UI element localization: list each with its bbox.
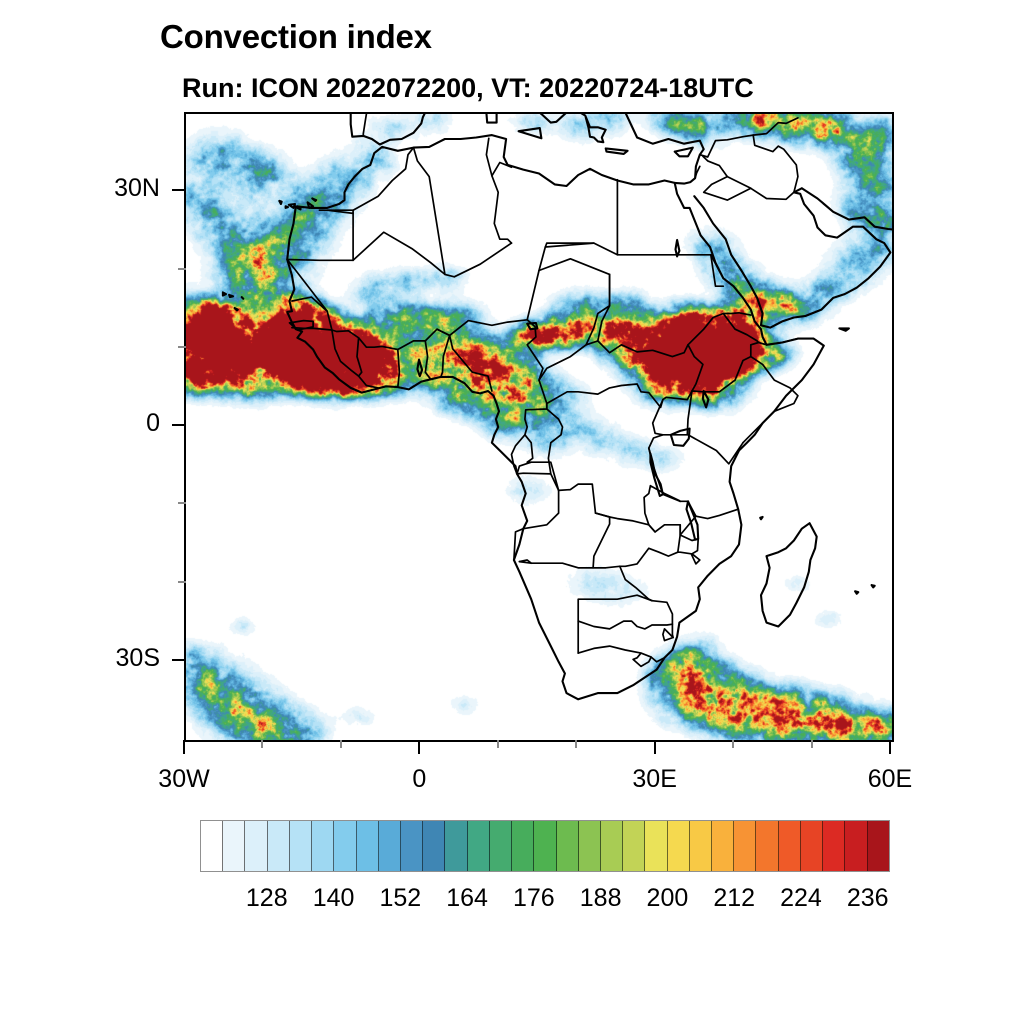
colorbar-cell (734, 821, 756, 871)
ytick-label: 0 (60, 409, 160, 438)
map-plot-area (184, 112, 894, 742)
coastline (223, 292, 226, 295)
country-border (425, 341, 430, 379)
coastline (279, 201, 281, 204)
colorbar-cell (490, 821, 512, 871)
coastline (676, 240, 680, 256)
country-border (652, 601, 673, 638)
country-border (578, 646, 664, 662)
country-border (492, 163, 512, 244)
xtick-major (654, 740, 656, 754)
colorbar-cell (423, 821, 445, 871)
colorbar-cell (534, 821, 556, 871)
colorbar-cell (334, 821, 356, 871)
xtick-minor (575, 740, 577, 748)
country-border (753, 135, 798, 192)
coastline (760, 517, 762, 519)
colorbar-cell (468, 821, 490, 871)
country-border (519, 562, 619, 568)
coastline (855, 591, 858, 593)
country-border (598, 341, 703, 391)
country-border (359, 376, 379, 388)
coastline (242, 297, 244, 299)
xtick-label: 0 (359, 765, 479, 794)
coastline (839, 328, 849, 330)
country-border (517, 473, 610, 568)
coastline (519, 128, 542, 138)
xtick-minor (340, 740, 342, 748)
country-border (437, 329, 450, 377)
xtick-minor (497, 740, 499, 748)
colorbar-cell (579, 821, 601, 871)
colorbar-cell (601, 821, 623, 871)
coastline (527, 323, 537, 329)
xtick-label: 30E (595, 765, 715, 794)
country-border (450, 335, 492, 391)
country-border (688, 313, 751, 345)
country-border (703, 156, 727, 176)
colorbar-cell (245, 821, 267, 871)
country-border (547, 384, 692, 407)
coastline (703, 391, 709, 407)
colorbar-cell (690, 821, 712, 871)
colorbar-cell (823, 821, 845, 871)
ytick-major (172, 659, 186, 661)
coastline (235, 308, 238, 310)
figure-subtitle: Run: ICON 2022072200, VT: 20220724-18UTC (182, 73, 754, 104)
country-border (547, 404, 563, 474)
coastline (308, 202, 314, 208)
colorbar-cell (645, 821, 667, 871)
coastline (872, 585, 875, 587)
ytick-minor (178, 502, 186, 504)
colorbar-cell (756, 821, 778, 871)
country-border (486, 138, 492, 176)
country-border (514, 490, 559, 560)
coastline (761, 523, 817, 626)
colorbar-cell (201, 821, 223, 871)
country-border (353, 148, 413, 211)
coastline (606, 148, 628, 154)
xtick-major (418, 740, 420, 754)
colorbar (200, 820, 890, 872)
xtick-minor (811, 740, 813, 748)
coastline (417, 360, 422, 376)
coastline (802, 188, 892, 243)
country-border (287, 213, 353, 260)
colorbar-cell (290, 821, 312, 871)
country-border (357, 338, 362, 376)
xtick-minor (732, 740, 734, 748)
ytick-minor (178, 581, 186, 583)
colorbar-cell (401, 821, 423, 871)
country-border (414, 148, 445, 275)
colorbar-cell (357, 821, 379, 871)
colorbar-cell (779, 821, 801, 871)
country-border (525, 435, 533, 462)
coastline (229, 295, 233, 297)
map-coastlines-and-borders (186, 114, 892, 740)
ytick-label: 30S (60, 644, 160, 673)
coastline (286, 206, 288, 208)
country-border (351, 114, 373, 136)
coastline (347, 114, 606, 145)
xtick-label: 30W (124, 765, 244, 794)
country-border (512, 320, 547, 474)
country-border (454, 243, 511, 277)
colorbar-cells (200, 820, 890, 872)
page-title: Convection index (160, 18, 432, 56)
coastline (486, 114, 497, 123)
coastline (675, 148, 693, 157)
colorbar-cell (868, 821, 889, 871)
xtick-label: 60E (830, 765, 950, 794)
xtick-major (183, 740, 185, 754)
country-border (527, 243, 617, 320)
country-border (704, 177, 751, 201)
colorbar-cell (712, 821, 734, 871)
country-border (539, 259, 610, 380)
colorbar-cell (512, 821, 534, 871)
country-border (753, 118, 798, 135)
coastline (289, 204, 295, 208)
ytick-minor (178, 346, 186, 348)
colorbar-cell (223, 821, 245, 871)
colorbar-tick-label: 236 (818, 884, 918, 913)
ytick-label: 30N (60, 174, 160, 203)
country-border (723, 314, 798, 443)
country-border (332, 329, 450, 349)
coastline (312, 199, 316, 201)
country-border (332, 330, 359, 376)
country-border (578, 621, 672, 629)
colorbar-cell (445, 821, 467, 871)
country-border (633, 653, 651, 666)
colorbar-cell (845, 821, 867, 871)
colorbar-cell (623, 821, 645, 871)
ytick-major (172, 189, 186, 191)
colorbar-cell (379, 821, 401, 871)
country-border (398, 350, 400, 388)
country-border (287, 260, 332, 331)
xtick-major (889, 740, 891, 754)
country-border (450, 320, 528, 336)
colorbar-cell (312, 821, 334, 871)
coastline (297, 206, 300, 209)
country-border (700, 135, 753, 157)
ytick-major (172, 424, 186, 426)
colorbar-cell (268, 821, 290, 871)
colorbar-cell (668, 821, 690, 871)
colorbar-cell (801, 821, 823, 871)
ytick-minor (178, 268, 186, 270)
country-border (649, 435, 738, 519)
xtick-minor (261, 740, 263, 748)
coastline (694, 188, 890, 327)
figure-root: Convection index Run: ICON 2022072200, V… (0, 0, 1024, 1024)
colorbar-cell (557, 821, 579, 871)
